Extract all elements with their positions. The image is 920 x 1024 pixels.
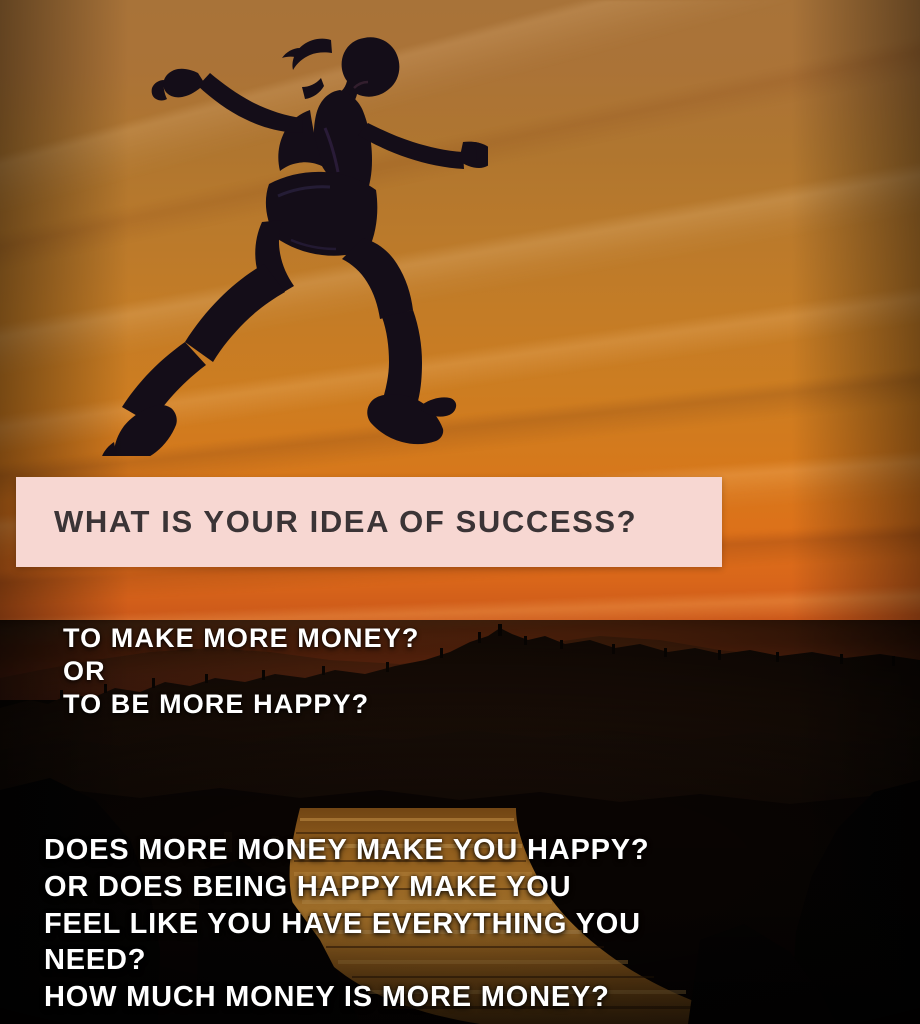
mid-question-block: TO MAKE MORE MONEY? OR TO BE MORE HAPPY? xyxy=(63,622,419,721)
bottom-question-line-2: OR DOES BEING HAPPY MAKE YOU xyxy=(44,869,649,906)
headline-title: WHAT IS YOUR IDEA OF SUCCESS? xyxy=(54,504,637,540)
bottom-question-line-3: FEEL LIKE YOU HAVE EVERYTHING YOU xyxy=(44,906,649,943)
mid-question-line-1: TO MAKE MORE MONEY? xyxy=(63,622,419,655)
bottom-question-line-1: DOES MORE MONEY MAKE YOU HAPPY? xyxy=(44,832,649,869)
leaping-runner-silhouette xyxy=(78,26,488,456)
bottom-question-line-5: HOW MUCH MONEY IS MORE MONEY? xyxy=(44,979,649,1016)
mid-question-line-3: TO BE MORE HAPPY? xyxy=(63,688,419,721)
bottom-question-line-4: NEED? xyxy=(44,942,649,979)
poster-canvas: WHAT IS YOUR IDEA OF SUCCESS? TO MAKE MO… xyxy=(0,0,920,1024)
mid-question-line-2: OR xyxy=(63,655,419,688)
headline-banner: WHAT IS YOUR IDEA OF SUCCESS? xyxy=(16,477,722,567)
bottom-question-block: DOES MORE MONEY MAKE YOU HAPPY? OR DOES … xyxy=(44,832,649,1016)
